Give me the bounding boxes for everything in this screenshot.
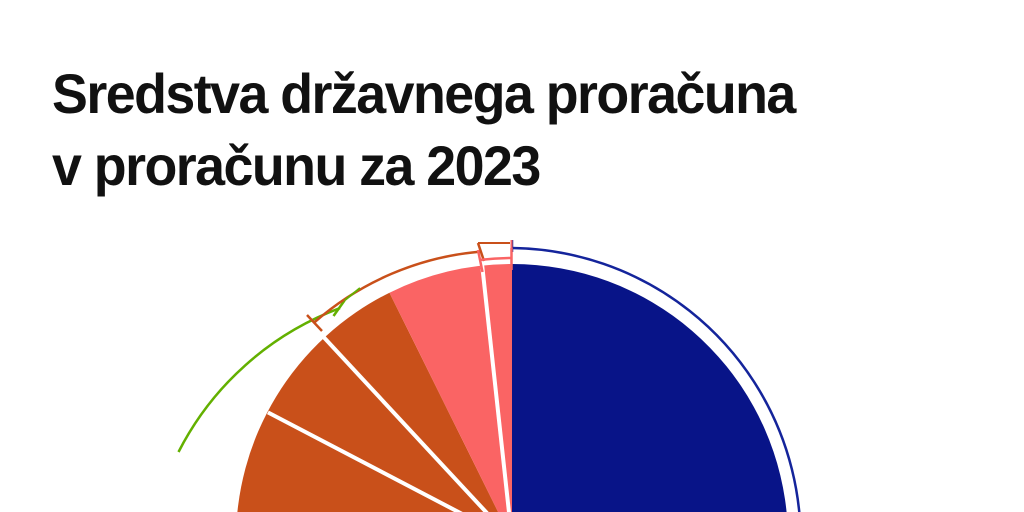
leader-line-dohodki	[345, 288, 361, 301]
pie-chart-svg	[0, 240, 1024, 512]
pie-chart: Davek na dodano vrednost 42,25% Trošarin…	[0, 240, 1024, 512]
page-title-line-1: Sredstva državnega proračuna	[52, 58, 935, 130]
chart-page: Sredstva državnega proračuna v proračunu…	[0, 0, 1024, 512]
page-title-line-2: v proračunu za 2023	[52, 130, 935, 202]
page-title: Sredstva državnega proračuna v proračunu…	[52, 58, 972, 202]
arc-indicator-nedavcni	[480, 258, 511, 260]
